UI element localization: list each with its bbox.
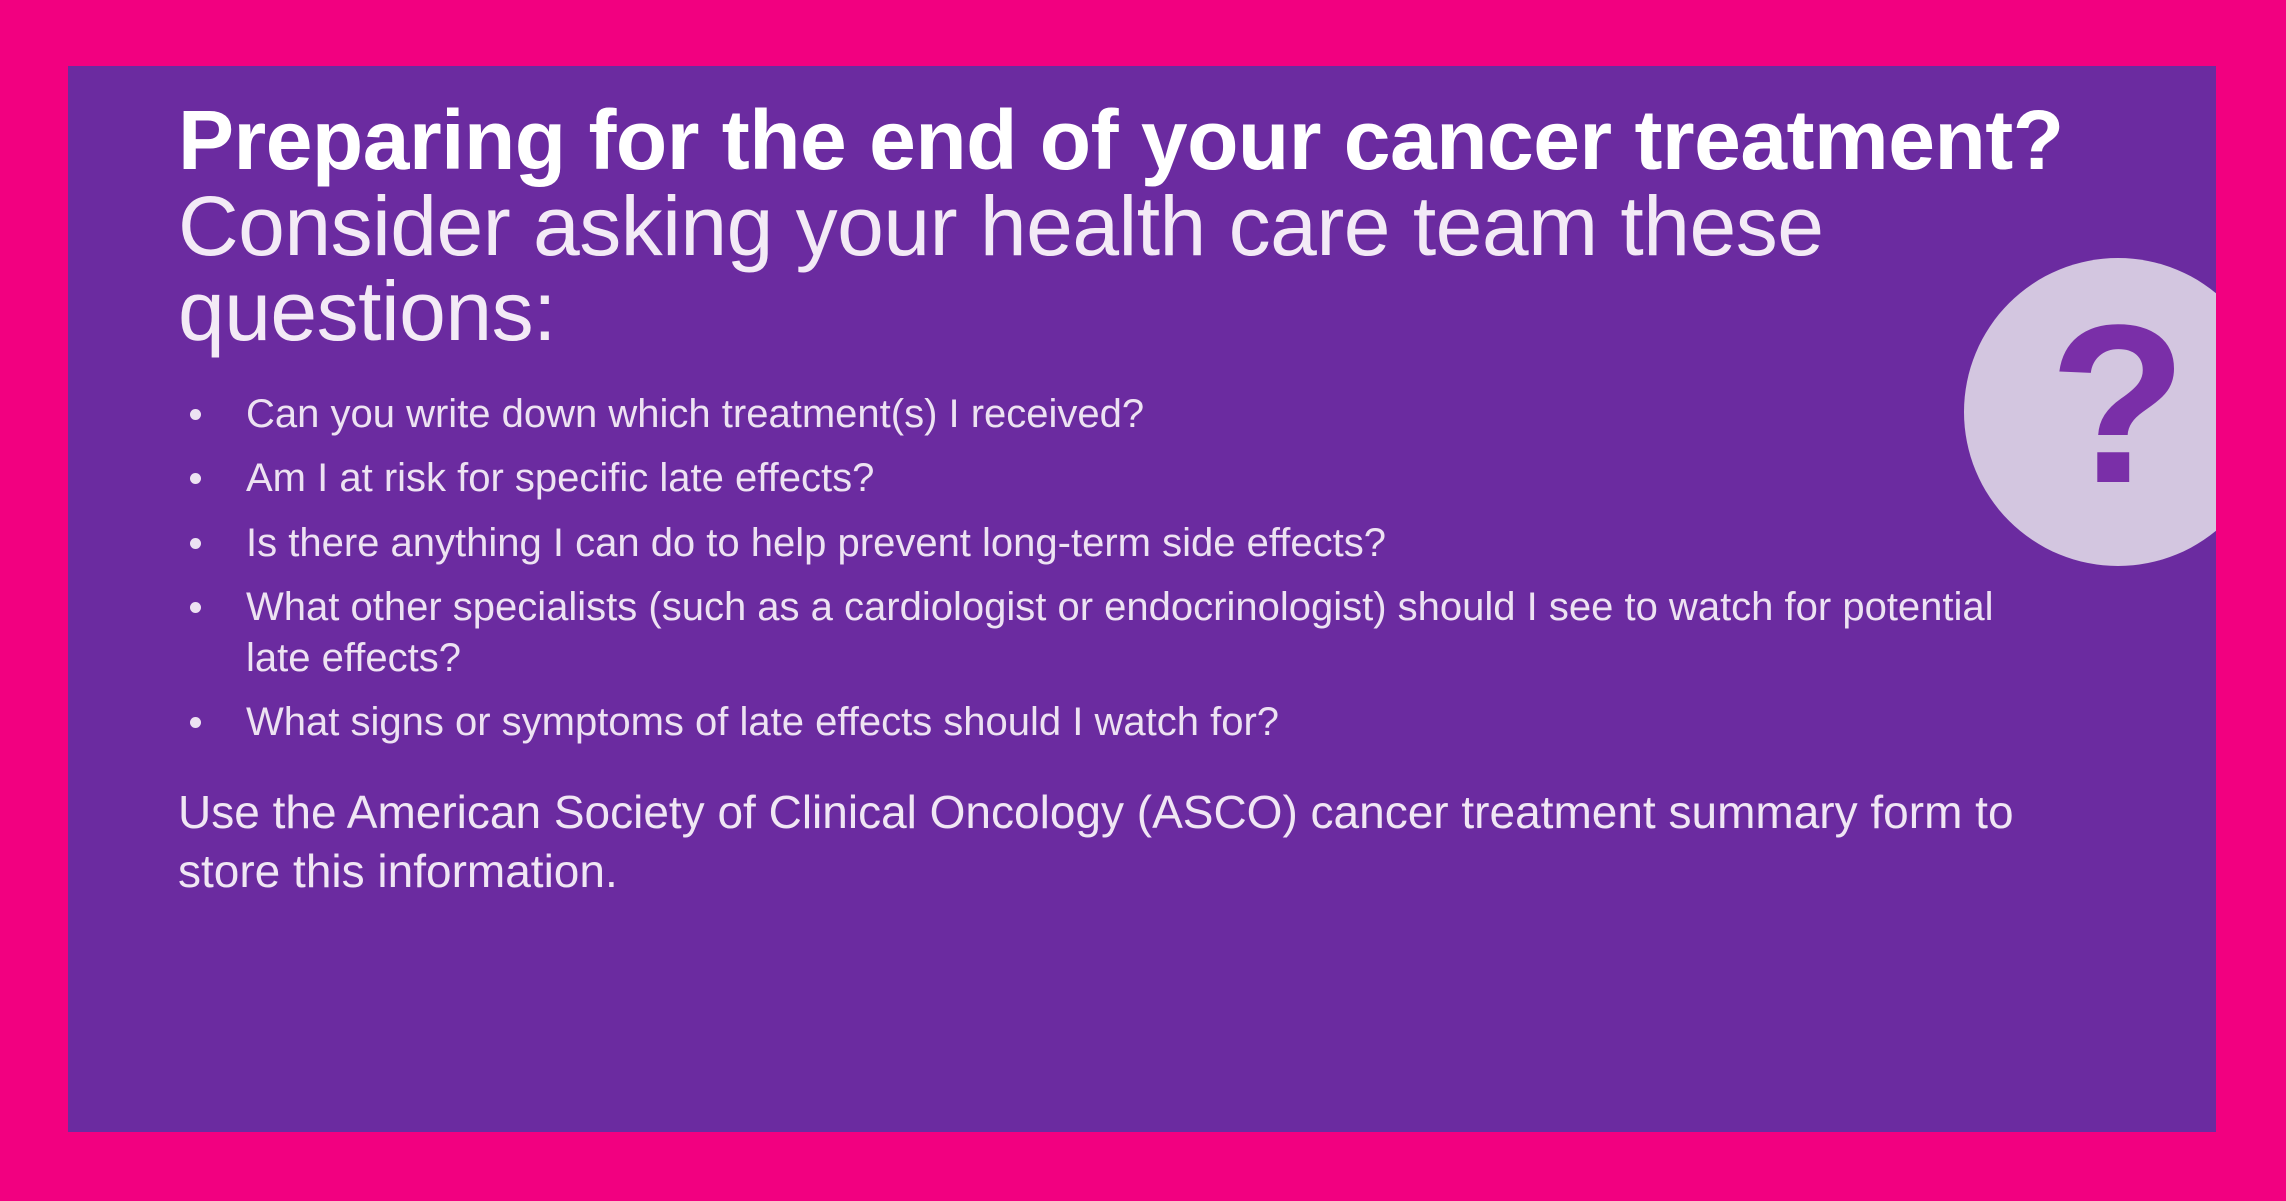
list-item: Am I at risk for specific late effects? [178,453,2026,503]
list-item: Can you write down which treatment(s) I … [178,389,2026,439]
question-mark-glyph: ? [2049,291,2187,517]
card-content: Preparing for the end of your cancer tre… [178,98,2176,901]
headline-bold-segment: Preparing for the end of your cancer tre… [178,93,2064,187]
list-item-label: What other specialists (such as a cardio… [246,585,1994,679]
list-item-label: What signs or symptoms of late effects s… [246,700,1279,744]
list-item: What signs or symptoms of late effects s… [178,697,2026,747]
bullet-dot-icon [190,538,201,549]
list-item: Is there anything I can do to help preve… [178,518,2026,568]
list-item: What other specialists (such as a cardio… [178,582,2026,683]
list-item-label: Can you write down which treatment(s) I … [246,392,1144,436]
list-item-label: Am I at risk for specific late effects? [246,456,874,500]
headline-light-segment: Consider asking your health care team th… [178,179,1823,359]
question-list: Can you write down which treatment(s) I … [178,389,2176,747]
footnote-text: Use the American Society of Clinical Onc… [178,783,2038,901]
bullet-dot-icon [190,409,201,420]
magenta-frame: ? Preparing for the end of your cancer t… [0,0,2286,1201]
purple-card-panel: ? Preparing for the end of your cancer t… [68,66,2216,1132]
bullet-dot-icon [190,717,201,728]
bullet-dot-icon [190,473,201,484]
bullet-dot-icon [190,602,201,613]
list-item-label: Is there anything I can do to help preve… [246,521,1386,565]
page-title: Preparing for the end of your cancer tre… [178,98,2078,355]
